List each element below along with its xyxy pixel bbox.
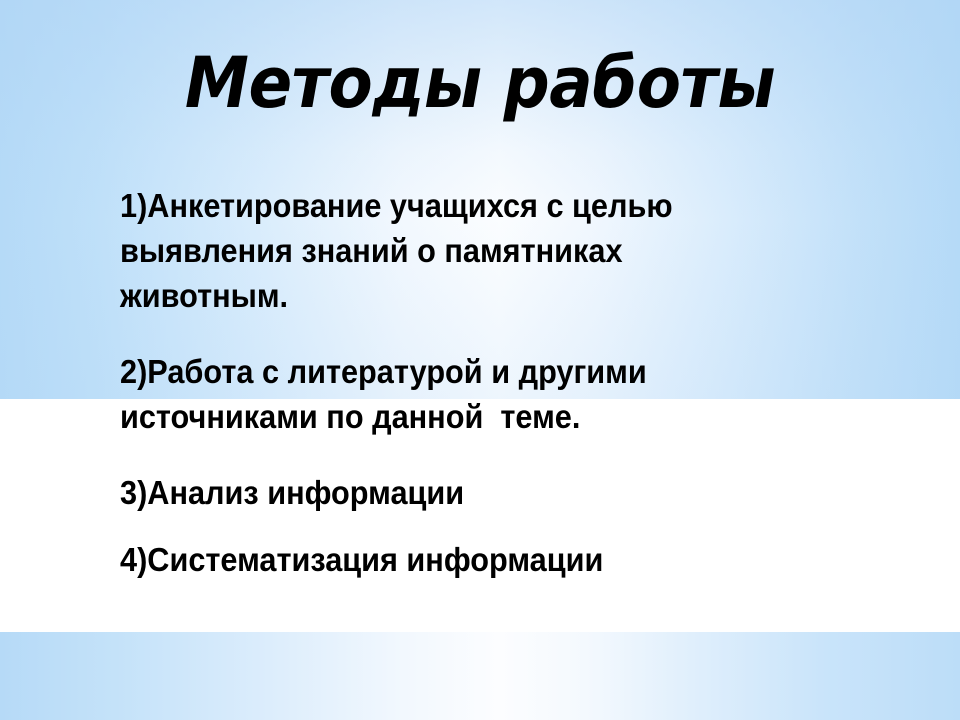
slide: Методы работы 1)Анкетирование учащихся с… [0, 0, 960, 720]
list-item: 1)Анкетирование учащихся с целью выявлен… [120, 183, 771, 318]
methods-list: 1)Анкетирование учащихся с целью выявлен… [120, 183, 820, 582]
background-band-bottom [0, 632, 960, 720]
slide-title: Методы работы [38, 44, 921, 122]
list-item: 4)Систематизация информации [120, 537, 771, 582]
list-item: 2)Работа с литературой и другими источни… [120, 349, 771, 439]
list-item: 3)Анализ информации [120, 470, 771, 515]
